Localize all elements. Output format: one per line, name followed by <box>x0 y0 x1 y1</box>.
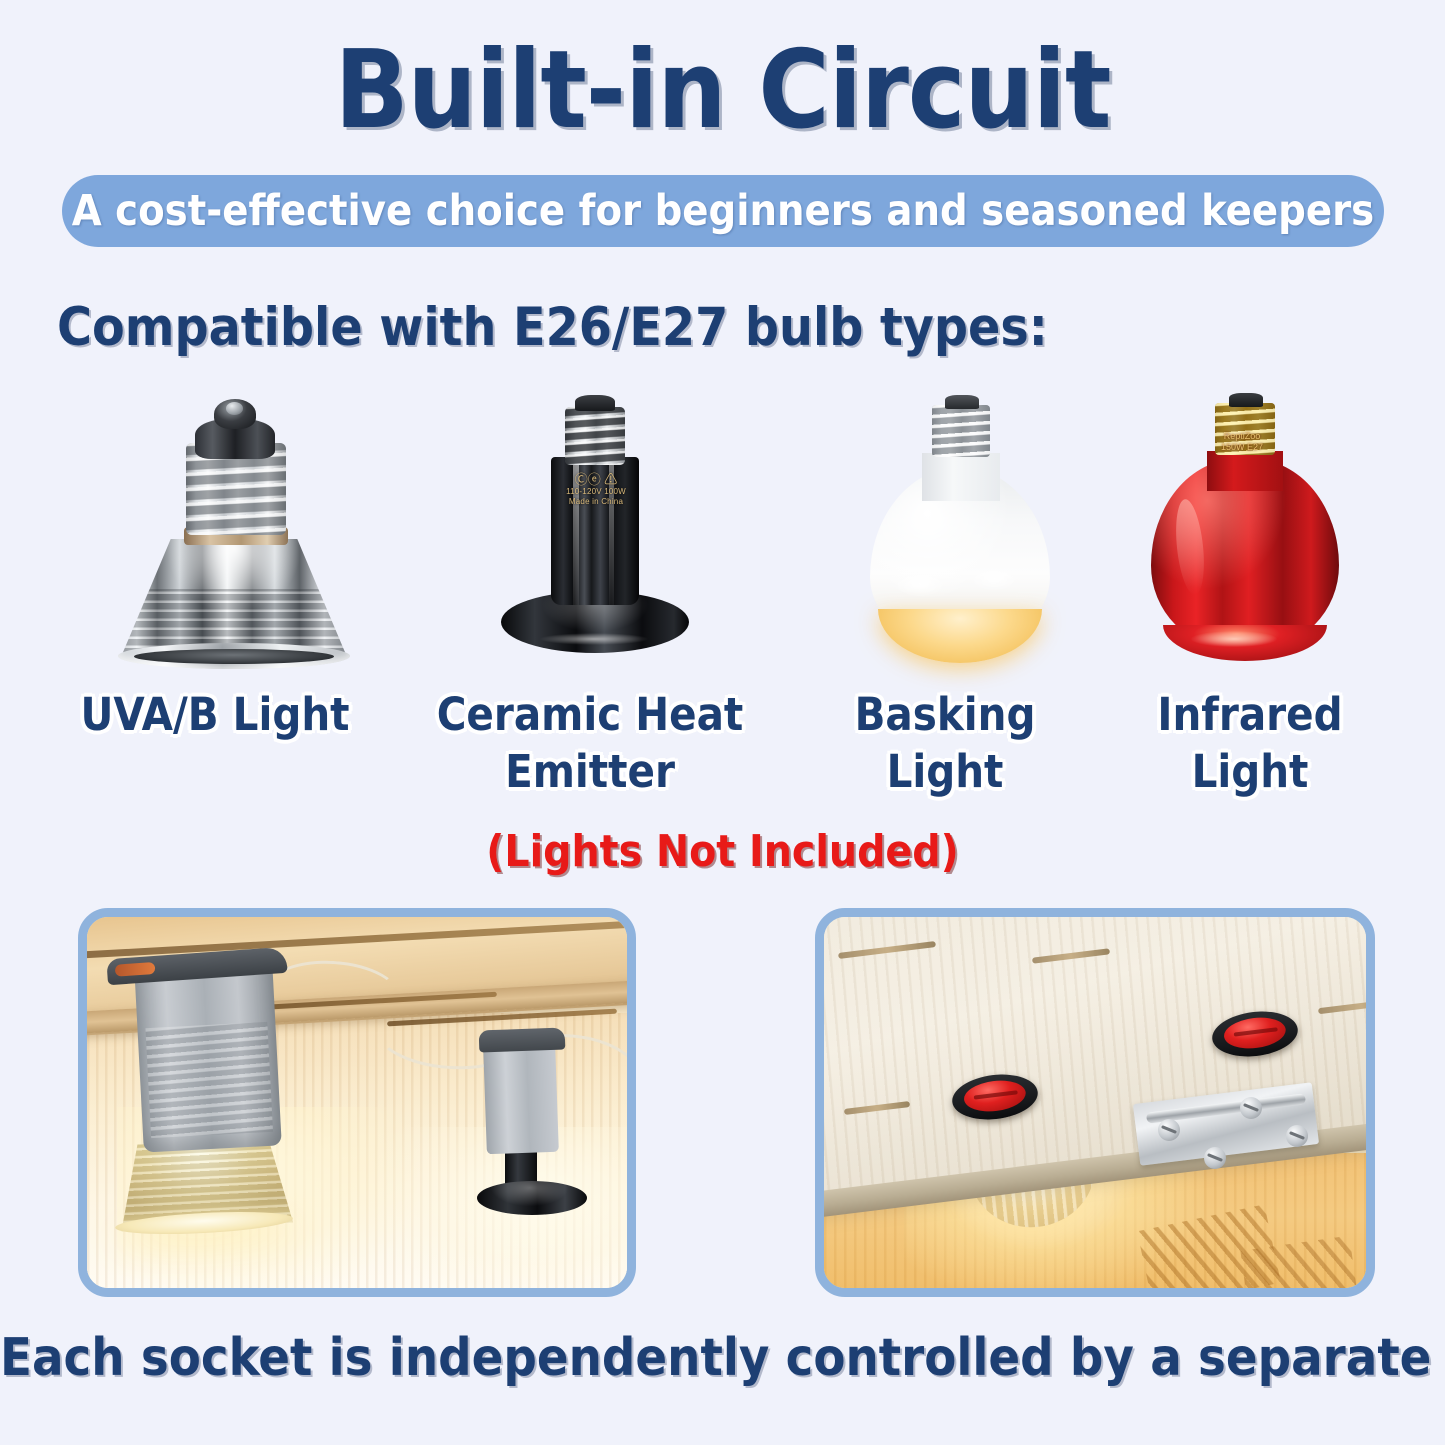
emitter-screw-base <box>565 407 625 465</box>
interior-sockets-photo <box>78 908 636 1297</box>
bulb-gallery: Ⓒⓔ ⚠ 110-120V 100W Made in China <box>0 385 1445 685</box>
interior-sockets-photo-content <box>87 917 627 1288</box>
bulb-label-basking: Basking Light <box>800 686 1090 800</box>
ceramic-socket-left <box>134 960 282 1153</box>
emitter-certification-marks: Ⓒⓔ ⚠ <box>553 473 639 486</box>
emitter-contact-tip <box>575 395 615 411</box>
bulb-item-basking <box>810 385 1110 670</box>
page-title: Built-in Circuit <box>0 28 1445 153</box>
subtitle-banner: A cost-effective choice for beginners an… <box>62 175 1384 247</box>
bulb-label-ceramic: Ceramic Heat Emitter <box>405 686 775 800</box>
infrared-bulb-neck <box>1207 451 1283 491</box>
basking-bulb-white-icon <box>810 385 1110 670</box>
bulb-label-uva-b: UVA/B Light <box>20 686 410 743</box>
infrared-bulb-highlight <box>1191 631 1277 647</box>
bulb-rim-inner <box>134 649 334 664</box>
subtitle-text: A cost-effective choice for beginners an… <box>72 186 1374 236</box>
hinge-screw <box>1240 1097 1262 1119</box>
bulb-contact-dot <box>226 402 243 415</box>
infrared-printed-line-2: 150W E27 <box>1197 442 1287 453</box>
basking-contact-tip <box>945 395 979 409</box>
infrared-printed-label: ReptiZoo 150W E27 <box>1197 431 1287 453</box>
ceramic-heat-emitter-icon: Ⓒⓔ ⚠ 110-120V 100W Made in China <box>447 385 747 670</box>
emitter-printed-label: 110-120V 100W Made in China <box>553 487 639 507</box>
socket-mount-clip-right <box>479 1028 566 1053</box>
infrared-bulb-red-icon: ReptiZoo 150W E27 <box>1095 385 1395 670</box>
bulb-reflector-shape <box>121 539 347 657</box>
hinge-screw <box>1204 1147 1226 1169</box>
lights-not-included-note: (Lights Not Included) <box>0 826 1445 877</box>
ceramic-socket-right <box>483 1044 559 1154</box>
basking-bulb-glow <box>878 609 1042 663</box>
emitter-printed-line-1: 110-120V 100W <box>553 487 639 497</box>
bulb-label-infrared: Infrared Light <box>1105 686 1395 800</box>
emitter-base-highlight <box>539 633 649 645</box>
lid-switches-photo-content <box>824 917 1366 1288</box>
bulb-item-ceramic-heat-emitter: Ⓒⓔ ⚠ 110-120V 100W Made in China <box>447 385 747 670</box>
bulb-item-infrared: ReptiZoo 150W E27 <box>1095 385 1395 670</box>
emitter-printed-line-2: Made in China <box>553 497 639 507</box>
basking-bulb-neck <box>922 453 1000 501</box>
infrared-printed-line-1: ReptiZoo <box>1197 431 1287 442</box>
heat-emitter-base-disc <box>477 1181 587 1215</box>
reflector-bulb-chrome-icon <box>78 385 378 670</box>
basking-screw-base <box>932 405 990 457</box>
lid-switches-photo <box>815 908 1375 1297</box>
footer-caption: Each socket is independently controlled … <box>0 1328 1445 1388</box>
bulb-label-row: UVA/B Light Ceramic Heat Emitter Basking… <box>0 686 1445 806</box>
infrared-contact-tip <box>1229 393 1263 407</box>
bulb-item-uva-b <box>78 385 378 670</box>
compatibility-heading: Compatible with E26/E27 bulb types: <box>57 297 1048 358</box>
hinge-screw <box>1286 1125 1308 1147</box>
hinge-screw <box>1158 1119 1180 1141</box>
